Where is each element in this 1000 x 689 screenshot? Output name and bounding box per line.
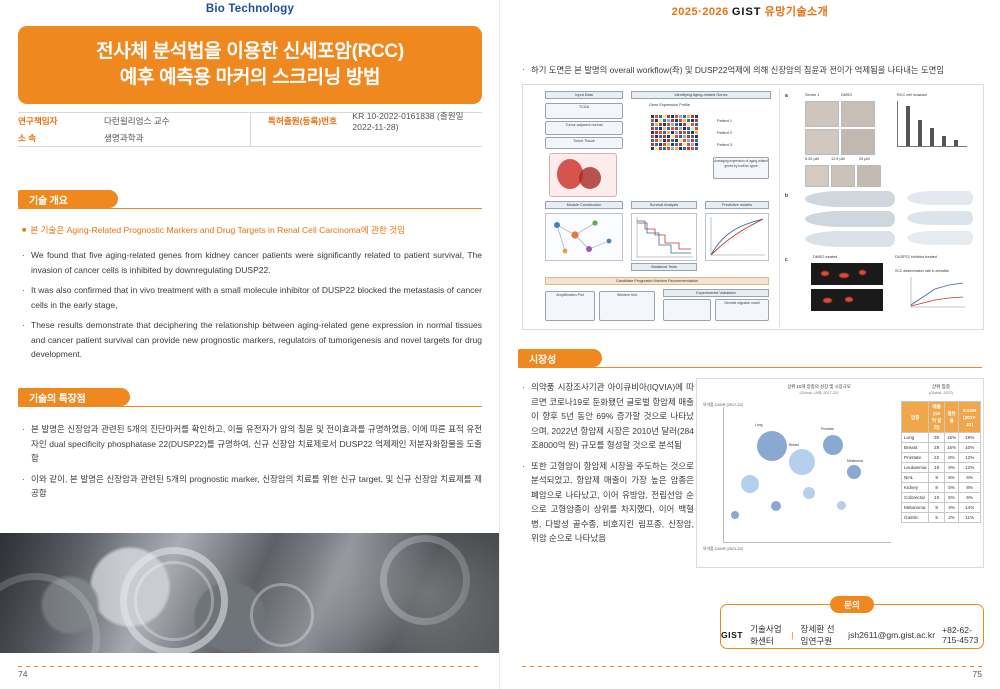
bullet-dot-icon: · [22,248,31,277]
square-bullet-icon: ■ [22,224,26,238]
bubble-leukaemia [741,475,759,493]
market-table: 암종 매출 (10억 달러) 점유율 CAGR (2017-22) Lung30… [901,401,981,523]
wf-network-graph-icon [545,213,623,261]
right-page-number: 75 [973,669,982,679]
wf-panel-header-survival: Survival Analysis [631,201,697,209]
wf-invasion-barchart [897,101,967,147]
features-underline [18,406,482,407]
features-list: ·본 발명은 신장암과 관련된 5개의 진단마커를 확인하고, 이들 유전자가 … [22,422,482,507]
header-suffix: 유망기술소개 [765,6,829,18]
bubble-breast [789,449,815,475]
wf-panel-header-module: Module Construction [545,201,623,209]
gist-logo: GIST [732,6,762,18]
bullet-dot-icon: · [22,283,31,312]
wf-label-conc-3: 25 µM [859,157,870,161]
wf-panel-header-predictive: Predictive models [705,201,769,209]
wf-panel-a-label: a [785,93,788,99]
th-cancer-type: 암종 [902,402,929,433]
market-chart-card: 상위 10개 암종의 성장 및 시장규모 (Global, US$, 2017-… [696,378,984,568]
wf-panel-b-label: b [785,193,788,199]
wf-zebrafish-2 [805,211,895,227]
wf-panel-header-candidate: Candidate Prognostic Markers Recommendat… [545,277,769,285]
market-table-title: 상위 암종 [903,384,979,390]
market-chart: 상위 10개 암종의 성장 및 시장규모 (Global, US$, 2017-… [697,379,983,567]
bubble-chart-x-axis-label: 의약품 CAGR (2021-22) [703,547,743,552]
bubble-chart-subtitle: (Global, US$, 2017-22) [749,391,889,395]
wf-dissemination-plot [903,275,969,320]
contact-box: 문의 GIST 기술사업화센터 | 장세환 선임연구원 jsh2611@gm.g… [720,604,984,649]
figure-note: · 하기 도면은 본 발명의 overall workflow(좌) 및 DUS… [522,64,984,76]
table-row: Kidney85%8% [902,483,981,493]
overview-highlight: ■ 본 기술은 Aging-Related Prognostic Markers… [22,224,482,238]
title-box: 전사체 분석법을 이용한 신세포암(RCC) 예후 예측용 마커의 스크리닝 방… [18,26,482,104]
table-row: Prostate228%12% [902,453,981,463]
th-share: 점유율 [944,402,959,433]
wf-panel-header-identify: Identifying Aging-related Genes [631,91,771,99]
wf-box-migration-model: Dendrite migration model [715,299,769,321]
table-row: Melanoma84%14% [902,503,981,513]
bullet-dot-icon: · [522,459,531,546]
section-tab-overview: 기술 개요 [18,190,118,208]
table-header-row: 암종 매출 (10억 달러) 점유율 CAGR (2017-22) [902,402,981,433]
contact-phone: +82-62-715-4573 [942,625,983,645]
table-row: Lung3015%19% [902,433,981,443]
bullet-dot-icon: · [22,422,31,466]
right-footer-rule [522,666,982,667]
right-page: 2025·2026 GIST 유망기술소개 · 하기 도면은 본 발명의 ove… [500,0,1000,689]
workflow-figure: Input Data Identifying Aging-related Gen… [523,85,983,329]
patent-label: 특허출원(등록)번호 [268,115,352,127]
wf-label-rcc-invasion: RCC cell invasion [897,93,927,97]
bubble-chart-title: 상위 10개 암종의 성장 및 시장규모 [749,384,889,390]
wf-label-serum: Serum 1 [805,93,819,97]
decorative-machinery-photo [0,533,500,653]
left-footer-rule [18,666,478,667]
table-row: Breast2915%10% [902,443,981,453]
overview-list: ·We found that five aging-related genes … [22,248,482,368]
contact-center-label: 기술사업화센터 [750,623,784,647]
gist-brand-label: GIST [721,630,743,640]
wf-roc-curve-icon [705,213,769,261]
table-row: NHL96%6% [902,473,981,483]
wf-box-tcga: TCGA [545,103,623,119]
section-tab-market: 시장성 [518,349,602,367]
market-list: ·의약품 시장조사기관 아이큐비아(IQVIA)에 따르면 코로나19로 둔화됐… [522,380,694,552]
market-table-subtitle: (Global, 2022) [903,391,979,395]
meta-divider-bottom [18,146,482,147]
right-page-header: 2025·2026 GIST 유망기술소개 [500,3,1000,19]
left-page-number: 74 [18,669,27,679]
wf-box-averaging: Averaging expression of aging-related ge… [713,157,769,179]
workflow-figure-card: Input Data Identifying Aging-related Gen… [522,84,984,330]
wf-zebrafish-1 [805,191,895,207]
wf-panel-c-label: c [785,257,788,263]
header-years: 2025·2026 [672,6,729,18]
bubble-prostate [823,435,843,455]
wf-label-inhibitor-treated: DUSP22 inhibitor treated [895,255,937,259]
patent-value: KR 10-2022-0161838 (출원일 2022-11-28) [352,110,482,132]
table-row: Leukaemia199%12% [902,463,981,473]
market-underline [518,367,982,368]
title-line-2: 예후 예측용 마커의 스크리닝 방법 [120,65,380,91]
bullet-dot-icon: · [22,472,31,501]
wf-label-patient-3: Patient 3 [717,143,732,147]
wf-box-amplification: Amplification Plot [545,291,595,321]
wf-label-dmso-treated: DMSO treated [813,255,837,259]
wf-fluorescence-1 [811,263,883,285]
bubble-melanoma [847,465,861,479]
bullet-dot-icon: · [522,64,531,76]
wf-label-gene-profile: Gene Expression Profile [649,103,690,107]
category-label: Bio Technology [0,3,500,15]
wf-fluorescence-2 [811,289,883,311]
wf-label-conc-2: 12.5 µM [831,157,845,161]
table-row: Colorectal105%6% [902,493,981,503]
bubble-lung [757,431,787,461]
wf-label-conc-1: 6.25 µM [805,157,819,161]
th-cagr: CAGR (2017-22) [959,402,981,433]
overview-underline [18,208,482,209]
wf-box-normal: Tumor-adjacent normal [545,121,623,135]
wf-zebrafish-5 [907,211,973,225]
bullet-dot-icon: · [522,380,531,453]
bubble-gastric [731,511,739,519]
dept-label: 소 속 [18,132,104,144]
title-line-1: 전사체 분석법을 이용한 신세포암(RCC) [96,39,404,65]
dept-value: 생명과학과 [104,132,144,144]
contact-divider-icon: | [791,630,793,640]
wf-panel-header-input: Input Data [545,91,623,99]
wf-zebrafish-4 [907,191,973,205]
contact-row: GIST 기술사업화센터 | 장세환 선임연구원 jsh2611@gm.gist… [721,623,983,647]
wf-label-patient-2: Patient 2 [717,131,732,135]
bubble-kidney [771,501,781,511]
wf-box-western-blot: Western blot [599,291,655,321]
wf-label-patient-1: Patient 1 [717,119,732,123]
researcher-label: 연구책임자 [18,115,104,127]
wf-label-dissemination: RCC dissemination rate in zebrafish [895,269,949,273]
wf-panel-header-validation: Experimental Validation [663,289,769,297]
section-tab-features: 기술의 특장점 [18,388,130,406]
th-sales: 매출 (10억 달러) [929,402,944,433]
researcher-value: 다런윌리엄스 교수 [104,115,170,127]
wf-survival-curve-icon [631,213,697,261]
wf-box-tumor: Tumor Tissue [545,137,623,149]
contact-person-name: 장세환 선임연구원 [801,623,842,647]
bubble-nhl [803,487,815,499]
wf-panel-header-stats: Statistical Tests [631,263,697,271]
contact-tab-label: 문의 [830,596,874,613]
wf-heatmap [651,115,711,155]
table-row: Gastric52%11% [902,513,981,523]
wf-label-dmso: DMSO [841,93,852,97]
wf-vertical-divider [779,89,780,327]
bubble-colorectal [837,501,846,510]
wf-zebrafish-3 [805,231,895,247]
bullet-dot-icon: · [22,318,31,362]
wf-zebrafish-6 [907,231,973,245]
wf-box-chem-structure [663,299,711,321]
left-page: Bio Technology 전사체 분석법을 이용한 신세포암(RCC) 예후… [0,0,500,689]
meta-table: 연구책임자 다런윌리엄스 교수 특허출원(등록)번호 KR 10-2022-01… [18,112,482,146]
contact-email[interactable]: jsh2611@gm.gist.ac.kr [848,630,935,640]
